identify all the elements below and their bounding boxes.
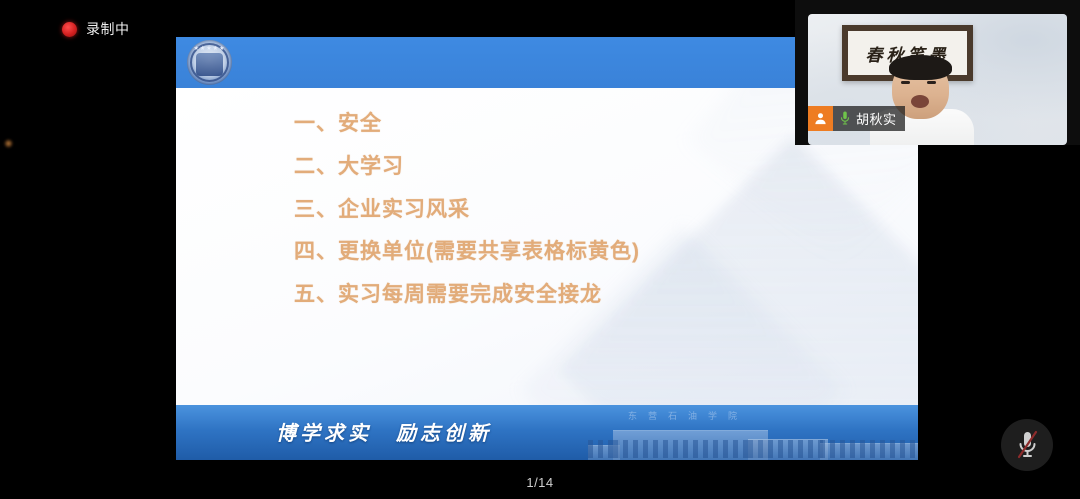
screen-artifact-dot [4, 139, 13, 148]
school-emblem-icon: ★★★★★ [187, 40, 232, 85]
slide-footer-banner: 博学求实 励志创新 东营石油学院 [176, 405, 918, 460]
building-windows [820, 440, 918, 458]
building-block-main [613, 430, 768, 460]
person-icon [808, 106, 833, 131]
list-item: 五、实习每周需要完成安全接龙 [294, 283, 898, 308]
building-block-mid [748, 439, 828, 460]
building-windows [613, 440, 768, 458]
participant-name: 胡秋实 [854, 109, 905, 128]
emblem-inner-shield [196, 53, 223, 76]
recording-dot-icon [62, 22, 77, 37]
emblem-stars: ★★★★★ [187, 45, 232, 52]
participant-name-badge: 胡秋实 [808, 106, 905, 131]
building-caption: 东营石油学院 [628, 409, 748, 422]
participant-hair [889, 55, 952, 80]
meeting-screen-share-view: 录制中 ★★★★★ 一、安全 二、大学习 三、企业实习风采 四、更换单位(需要共… [0, 0, 1080, 499]
slide-motto: 博学求实 励志创新 [276, 417, 492, 446]
participant-eye-right [927, 81, 936, 84]
recording-indicator: 录制中 [62, 19, 130, 39]
list-item: 二、大学习 [294, 155, 898, 180]
list-item: 三、企业实习风采 [294, 198, 898, 223]
campus-building-image: 东营石油学院 [588, 405, 918, 460]
participant-eye-left [901, 81, 910, 84]
list-item: 四、更换单位(需要共享表格标黄色) [294, 240, 898, 265]
participant-mouth [911, 95, 929, 108]
participant-video-tile[interactable]: 春秋笔墨 [795, 0, 1080, 145]
microphone-muted-icon[interactable] [1001, 419, 1053, 471]
page-indicator: 1/14 [0, 475, 1080, 490]
participant-figure [870, 59, 974, 145]
microphone-icon [833, 111, 854, 126]
building-block-right [820, 443, 918, 460]
building-windows [748, 440, 828, 458]
recording-label: 录制中 [86, 19, 130, 39]
